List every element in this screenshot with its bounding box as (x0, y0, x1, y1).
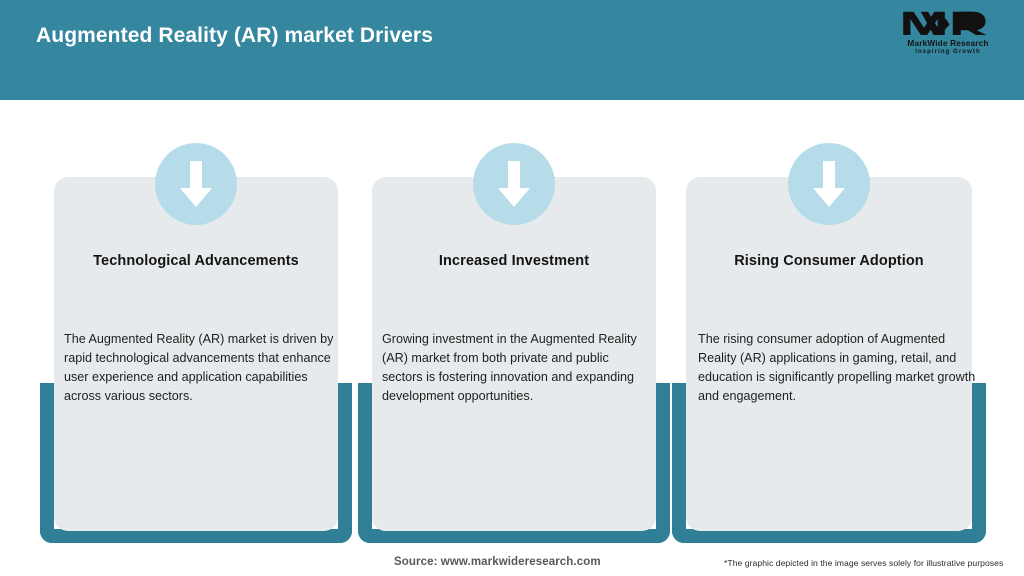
logo-company-name: MarkWide Research (892, 39, 1004, 48)
card-title: Technological Advancements (50, 253, 342, 269)
card-body-text: Growing investment in the Augmented Real… (382, 330, 652, 406)
brand-logo: MarkWide Research Inspiring Growth (892, 8, 1004, 64)
page-title: Augmented Reality (AR) market Drivers (36, 22, 736, 50)
card-body-text: The rising consumer adoption of Augmente… (698, 330, 976, 406)
disclaimer-note: *The graphic depicted in the image serve… (724, 558, 1003, 568)
card-body-text: The Augmented Reality (AR) market is dri… (64, 330, 338, 406)
slide-canvas: Augmented Reality (AR) market Drivers Ma… (0, 0, 1024, 576)
arrow-down-glyph (495, 159, 533, 209)
arrow-down-icon (473, 143, 555, 225)
arrow-down-icon (788, 143, 870, 225)
card-title: Rising Consumer Adoption (682, 253, 976, 269)
arrow-down-icon (155, 143, 237, 225)
mwr-logo-icon (900, 8, 996, 38)
arrow-down-glyph (810, 159, 848, 209)
arrow-down-glyph (177, 159, 215, 209)
logo-tagline: Inspiring Growth (892, 49, 1004, 55)
card-title: Increased Investment (368, 253, 660, 269)
source-note: Source: www.markwideresearch.com (394, 556, 601, 568)
header-bar: Augmented Reality (AR) market Drivers Ma… (0, 0, 1024, 100)
